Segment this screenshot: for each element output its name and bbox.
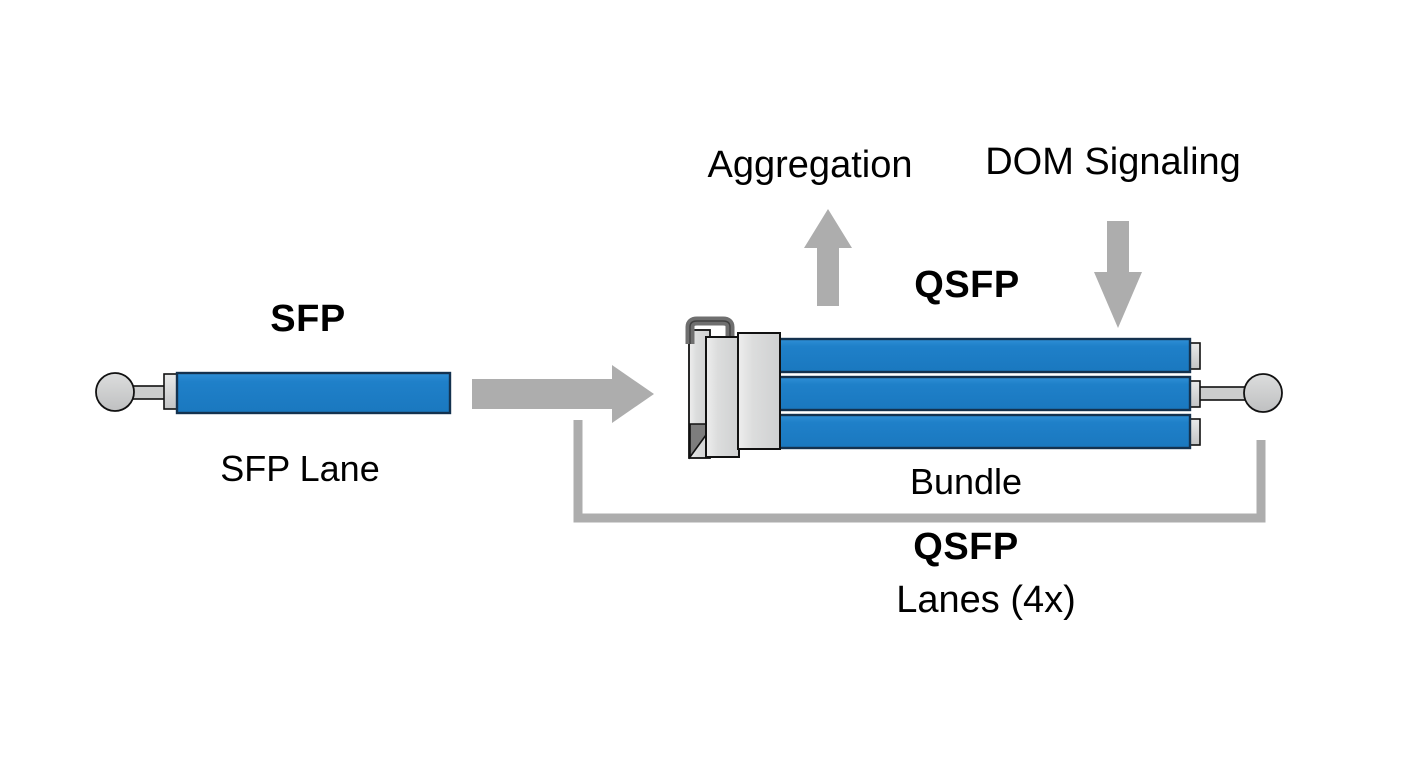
sfp-lane-label: SFP Lane bbox=[220, 451, 379, 487]
qsfp-panel-a bbox=[706, 337, 739, 457]
qsfp-panel-b bbox=[738, 333, 780, 449]
sfp-module bbox=[96, 373, 450, 413]
aggregation-arrow-icon bbox=[804, 209, 852, 306]
qsfp-title-label: QSFP bbox=[914, 266, 1019, 304]
aggregation-label: Aggregation bbox=[708, 146, 913, 184]
qsfp-lane-1 bbox=[778, 339, 1200, 372]
qsfp-lane-3-body bbox=[778, 415, 1190, 448]
sfp-fiber-head-icon bbox=[96, 373, 134, 411]
diagram-graphics bbox=[0, 0, 1408, 768]
qsfp-fiber-head-icon bbox=[1244, 374, 1282, 412]
dom-signaling-arrow-icon bbox=[1094, 221, 1142, 328]
qsfp-lanes-group bbox=[778, 339, 1282, 448]
sfp-title-label: SFP bbox=[270, 300, 345, 338]
transition-arrow-icon bbox=[472, 365, 654, 423]
qsfp-bottom-label: QSFP bbox=[913, 528, 1018, 566]
diagram-canvas: SFP SFP Lane Aggregation DOM Signaling Q… bbox=[0, 0, 1408, 768]
qsfp-lanes-label: Lanes (4x) bbox=[896, 581, 1076, 619]
sfp-lane-body bbox=[177, 373, 450, 413]
qsfp-lane-2 bbox=[778, 374, 1282, 412]
qsfp-lane-1-body bbox=[778, 339, 1190, 372]
dom-signaling-label: DOM Signaling bbox=[985, 143, 1241, 181]
bundle-label: Bundle bbox=[910, 464, 1022, 500]
qsfp-module-housing bbox=[689, 321, 780, 458]
qsfp-lane-3 bbox=[778, 415, 1200, 448]
qsfp-lane-2-body bbox=[778, 377, 1190, 410]
